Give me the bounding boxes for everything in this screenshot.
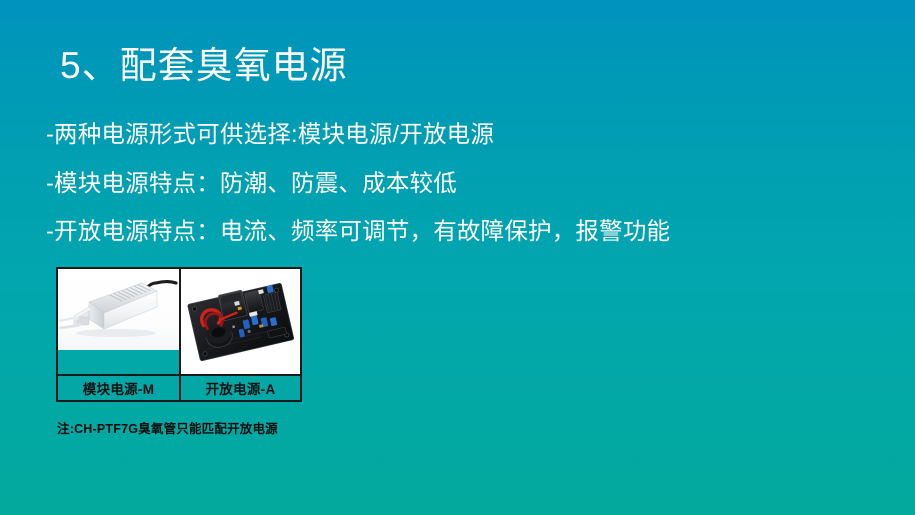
product-comparison-table: 模块电源-M 开放电源-A [56,267,302,402]
page-title: 5、配套臭氧电源 [60,44,348,88]
table-cell-module-photo [58,269,179,374]
table-caption-row: 模块电源-M 开放电源-A [58,374,300,400]
footnote-text: 注:CH-PTF7G臭氧管只能匹配开放电源 [57,418,278,437]
cell-teal-filler [58,352,179,374]
open-power-supply-photo [181,269,300,374]
body-line-module-features: -模块电源特点：防潮、防震、成本较低 [46,169,457,198]
module-power-supply-photo [58,269,179,350]
caption-module-power-supply: 模块电源-M [58,376,179,400]
table-cell-open-photo [179,269,300,374]
slide-canvas: 5、配套臭氧电源 -两种电源形式可供选择:模块电源/开放电源 -模块电源特点：防… [0,0,915,515]
body-line-open-features: -开放电源特点：电流、频率可调节，有故障保护，报警功能 [46,217,670,246]
body-line-power-supply-types: -两种电源形式可供选择:模块电源/开放电源 [46,120,494,149]
table-row [58,269,300,374]
caption-open-power-supply: 开放电源-A [179,376,300,400]
